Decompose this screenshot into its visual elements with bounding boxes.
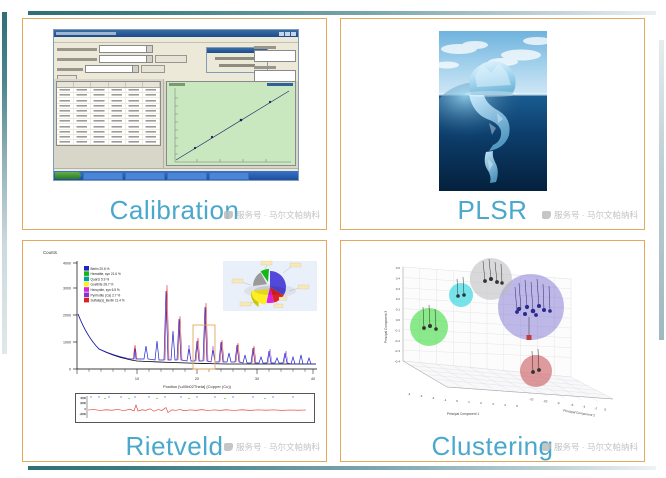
svg-text:Sulfate(s)_Berlin 11.4 %: Sulfate(s)_Berlin 11.4 %	[91, 299, 125, 303]
app-form-area	[54, 43, 298, 81]
dropdown-select[interactable]	[85, 65, 139, 73]
svg-text:-1: -1	[444, 398, 447, 402]
svg-text:2000: 2000	[80, 401, 86, 405]
svg-text:5: 5	[516, 404, 518, 408]
svg-text:3000: 3000	[63, 287, 71, 291]
svg-text:0.5: 0.5	[396, 266, 401, 270]
svg-text:0.2: 0.2	[396, 297, 401, 301]
field-label	[254, 46, 276, 49]
svg-text:-0.1: -0.1	[395, 328, 401, 332]
svg-text:2: 2	[480, 401, 482, 405]
svg-text:-10: -10	[543, 399, 548, 404]
svg-text:-0.2: -0.2	[395, 339, 401, 343]
cluster-grey	[470, 258, 512, 300]
calibration-plot[interactable]	[166, 81, 296, 166]
dialog-text-line	[215, 57, 259, 60]
panel-plsr[interactable]: PLSR 服务号 · 马尔文帕纳科	[340, 18, 645, 230]
app-body	[54, 79, 298, 168]
svg-text:-2000: -2000	[79, 412, 86, 416]
dropdown-select[interactable]	[99, 45, 153, 53]
app-title-text	[56, 32, 116, 35]
window-controls[interactable]	[279, 32, 296, 36]
y-axis-label: Counts	[43, 250, 58, 255]
iceberg-question-mark-photo	[439, 31, 547, 191]
residual-plot: 4000 2000 0 -2000	[75, 393, 315, 423]
field-label	[57, 58, 97, 61]
svg-text:0.1: 0.1	[396, 308, 401, 312]
svg-text:Goethite 28.7 %: Goethite 28.7 %	[91, 283, 114, 287]
svg-text:0: 0	[69, 368, 71, 372]
x-axis-label: Position [\u00b02Theta] (Copper (Cu))	[163, 384, 232, 389]
svg-text:Pyrrhotite (Ca) 2.7 %: Pyrrhotite (Ca) 2.7 %	[91, 293, 121, 297]
panel-grid: Calibration 服务号 · 马尔文帕纳科	[0, 0, 666, 478]
svg-text:30: 30	[255, 377, 259, 381]
watermark-text: 服务号 · 马尔文帕纳科	[236, 441, 320, 453]
svg-text:4000: 4000	[80, 396, 86, 400]
dialog-text-line	[219, 64, 255, 67]
svg-text:Quartz 5.9 %: Quartz 5.9 %	[91, 277, 110, 281]
field-label	[57, 68, 83, 71]
taskbar-item[interactable]	[83, 172, 123, 180]
panel-rietveld[interactable]: Counts 01000 20003000 4000	[22, 240, 327, 462]
svg-text:0.0: 0.0	[396, 318, 401, 322]
watermark-text: 服务号 · 马尔文帕纳科	[554, 209, 638, 221]
xrd-diffractogram-chart[interactable]: Counts 01000 20003000 4000	[27, 245, 322, 391]
svg-text:0: 0	[456, 399, 458, 403]
speech-bubble-icon	[542, 443, 551, 451]
data-table-pane[interactable]	[54, 79, 164, 168]
watermark: 服务号 · 马尔文帕纳科	[224, 209, 320, 221]
calibration-app-window	[53, 29, 299, 181]
field-label	[254, 66, 276, 69]
calibration-curve-svg	[167, 82, 295, 170]
svg-text:0.3: 0.3	[396, 287, 401, 291]
x-axis-label: Principal Component 1	[447, 412, 479, 416]
speech-bubble-icon	[542, 211, 551, 219]
svg-text:-3: -3	[420, 394, 423, 398]
action-button[interactable]	[141, 65, 165, 73]
clustering-3d-chart[interactable]: 0.50.40.3 0.20.10.0 -0.1-0.2-0.3 -0.4 Pr…	[351, 249, 636, 429]
speech-bubble-icon	[224, 443, 233, 451]
watermark: 服务号 · 马尔文帕纳科	[542, 209, 638, 221]
xrd-legend: Berlin 20.6 % Hematite, syn 21.6 % Quart…	[83, 265, 141, 303]
action-button[interactable]	[155, 55, 187, 63]
taskbar-item[interactable]	[167, 172, 207, 180]
app-titlebar	[54, 30, 298, 37]
data-table[interactable]	[56, 81, 161, 146]
svg-text:2000: 2000	[63, 314, 71, 318]
start-button[interactable]	[55, 172, 81, 179]
svg-text:10: 10	[135, 377, 139, 381]
svg-text:40: 40	[311, 377, 315, 381]
svg-text:1000: 1000	[63, 341, 71, 345]
svg-text:Berlin 20.6 %: Berlin 20.6 %	[91, 267, 110, 271]
svg-text:-0.3: -0.3	[395, 349, 401, 353]
svg-text:Hematite, syn 21.6 %: Hematite, syn 21.6 %	[91, 272, 121, 276]
watermark-text: 服务号 · 马尔文帕纳科	[236, 209, 320, 221]
field-label	[57, 48, 97, 51]
svg-text:0.4: 0.4	[396, 276, 401, 280]
panel-clustering[interactable]: 0.50.40.3 0.20.10.0 -0.1-0.2-0.3 -0.4 Pr…	[340, 240, 645, 462]
windows-taskbar[interactable]	[54, 171, 298, 180]
svg-text:-0.4: -0.4	[395, 360, 401, 364]
svg-text:20: 20	[195, 377, 199, 381]
table-row[interactable]	[57, 140, 160, 145]
svg-text:Hercynite, syn 6.5 %: Hercynite, syn 6.5 %	[91, 288, 120, 292]
svg-text:3: 3	[492, 402, 494, 406]
svg-text:0: 0	[85, 407, 87, 411]
taskbar-item[interactable]	[125, 172, 165, 180]
svg-text:4: 4	[504, 403, 506, 407]
watermark: 服务号 · 马尔文帕纳科	[224, 441, 320, 453]
watermark: 服务号 · 马尔文帕纳科	[542, 441, 638, 453]
svg-text:-2: -2	[432, 396, 435, 400]
text-field[interactable]	[254, 50, 296, 62]
svg-text:4000: 4000	[63, 262, 71, 266]
taskbar-item[interactable]	[209, 172, 249, 180]
speech-bubble-icon	[224, 211, 233, 219]
panel-calibration[interactable]: Calibration 服务号 · 马尔文帕纳科	[22, 18, 327, 230]
z-axis-label: Principal Component 3	[384, 311, 388, 343]
phase-pie-chart	[223, 261, 317, 311]
watermark-text: 服务号 · 马尔文帕纳科	[554, 441, 638, 453]
dropdown-select[interactable]	[99, 55, 153, 63]
svg-text:1: 1	[468, 400, 470, 404]
svg-text:-12: -12	[529, 397, 534, 402]
svg-text:-4: -4	[408, 392, 411, 396]
